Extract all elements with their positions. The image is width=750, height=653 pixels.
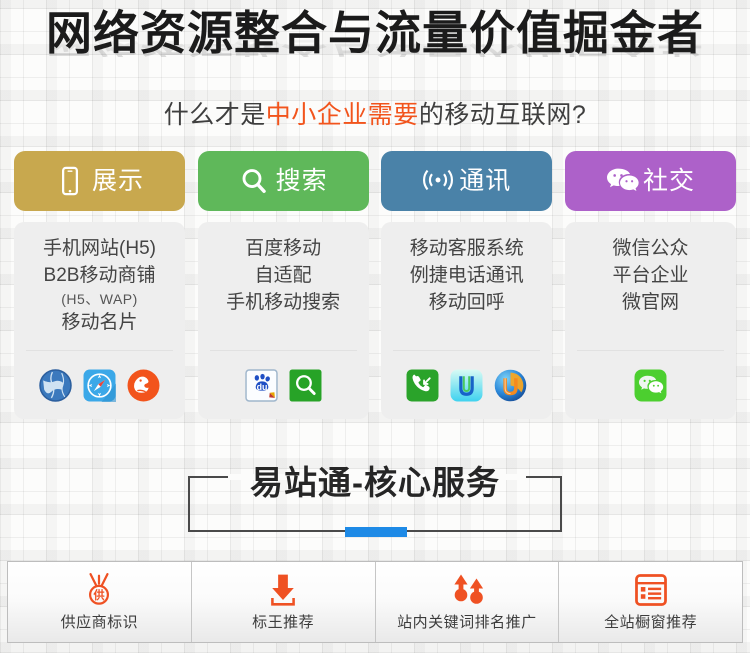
service-card-display[interactable]: 展示 手机网站(H5) B2B移动商铺 (H5、WAP) 移动名片 bbox=[14, 151, 185, 419]
card-text-block: 百度移动 自适配 手机移动搜索 bbox=[204, 236, 363, 317]
feature-strip: 供 供应商标识 标王推荐 站内关键词排名推广 全站橱窗推荐 bbox=[7, 561, 743, 643]
hero-section: 网络资源整合与流量价值掘金者 网络资源整合与流量价值掘金者 bbox=[0, 0, 750, 92]
page-title: 网络资源整合与流量价值掘金者 bbox=[0, 10, 750, 56]
feature-item-label: 全站橱窗推荐 bbox=[604, 611, 697, 632]
double-up-arrow-icon bbox=[449, 572, 485, 608]
card-body-display: 手机网站(H5) B2B移动商铺 (H5、WAP) 移动名片 bbox=[14, 222, 185, 419]
card-header-label: 搜索 bbox=[276, 169, 328, 194]
signal-broadcast-icon bbox=[422, 166, 452, 196]
orange-u-orb-icon[interactable] bbox=[494, 369, 527, 402]
globe-browser-icon[interactable] bbox=[39, 369, 72, 402]
feature-item-showcase[interactable]: 全站橱窗推荐 bbox=[558, 562, 742, 642]
hero-subtitle-highlight: 中小企业需要 bbox=[266, 101, 419, 129]
section-accent-bar bbox=[345, 527, 407, 537]
card-app-icons: du bbox=[204, 351, 363, 419]
card-app-icons bbox=[571, 351, 730, 419]
service-cards-row: 展示 手机网站(H5) B2B移动商铺 (H5、WAP) 移动名片 bbox=[0, 151, 750, 419]
download-arrow-icon bbox=[265, 572, 301, 608]
card-header-search[interactable]: 搜索 bbox=[198, 151, 369, 211]
svg-text:du: du bbox=[256, 382, 267, 392]
service-card-social[interactable]: 社交 微信公众 平台企业 微官网 bbox=[565, 151, 736, 419]
card-app-icons bbox=[387, 351, 546, 419]
feature-item-label: 标王推荐 bbox=[252, 611, 314, 632]
card-header-social[interactable]: 社交 bbox=[565, 151, 736, 211]
promo-page: 网络资源整合与流量价值掘金者 网络资源整合与流量价值掘金者 什么才是中小企业需要… bbox=[0, 0, 750, 653]
card-line: 自适配 bbox=[204, 263, 363, 290]
service-card-search[interactable]: 搜索 百度移动 自适配 手机移动搜索 du bbox=[198, 151, 369, 419]
card-line: 百度移动 bbox=[204, 236, 363, 263]
card-text-block: 微信公众 平台企业 微官网 bbox=[571, 236, 730, 317]
wechat-bubbles-icon bbox=[606, 166, 636, 196]
card-line: 移动名片 bbox=[20, 310, 179, 337]
card-line: 微官网 bbox=[571, 290, 730, 317]
card-line: 移动客服系统 bbox=[387, 236, 546, 263]
card-line-small: (H5、WAP) bbox=[20, 290, 179, 310]
service-card-communication[interactable]: 通讯 移动客服系统 例捷电话通讯 移动回呼 bbox=[381, 151, 552, 419]
card-line: B2B移动商铺 bbox=[20, 263, 179, 290]
feature-item-top-bid[interactable]: 标王推荐 bbox=[191, 562, 375, 642]
safari-compass-icon[interactable] bbox=[83, 369, 116, 402]
window-list-icon bbox=[633, 572, 669, 608]
mobile-phone-icon bbox=[55, 166, 85, 196]
medal-supplier-icon: 供 bbox=[81, 572, 117, 608]
card-line: 手机移动搜索 bbox=[204, 290, 363, 317]
green-search-icon[interactable] bbox=[289, 369, 322, 402]
svg-text:供: 供 bbox=[93, 588, 105, 602]
search-magnifier-icon bbox=[239, 166, 269, 196]
card-header-label: 通讯 bbox=[459, 169, 511, 194]
card-text-block: 移动客服系统 例捷电话通讯 移动回呼 bbox=[387, 236, 546, 317]
feature-item-label: 供应商标识 bbox=[61, 611, 139, 632]
green-phone-call-icon[interactable] bbox=[406, 369, 439, 402]
baidu-paw-icon[interactable]: du bbox=[245, 369, 278, 402]
hero-subtitle-pre: 什么才是 bbox=[164, 101, 266, 129]
section-title: 易站通-核心服务 bbox=[0, 464, 750, 502]
card-header-communication[interactable]: 通讯 bbox=[381, 151, 552, 211]
card-line: 平台企业 bbox=[571, 263, 730, 290]
card-line: 微信公众 bbox=[571, 236, 730, 263]
blue-u-app-icon[interactable] bbox=[450, 369, 483, 402]
section-heading-block: 易站通-核心服务 bbox=[0, 464, 750, 538]
card-header-display[interactable]: 展示 bbox=[14, 151, 185, 211]
card-body-search: 百度移动 自适配 手机移动搜索 du bbox=[198, 222, 369, 419]
card-header-label: 展示 bbox=[92, 169, 144, 194]
hero-subtitle-post: 的移动互联网? bbox=[419, 101, 586, 129]
feature-item-supplier-badge[interactable]: 供 供应商标识 bbox=[8, 562, 191, 642]
card-body-communication: 移动客服系统 例捷电话通讯 移动回呼 bbox=[381, 222, 552, 419]
card-header-label: 社交 bbox=[643, 169, 695, 194]
card-body-social: 微信公众 平台企业 微官网 bbox=[565, 222, 736, 419]
feature-item-label: 站内关键词排名推广 bbox=[397, 611, 537, 632]
card-line: 例捷电话通讯 bbox=[387, 263, 546, 290]
card-app-icons bbox=[20, 351, 179, 419]
hero-subtitle: 什么才是中小企业需要的移动互联网? bbox=[0, 95, 750, 131]
card-line: 手机网站(H5) bbox=[20, 236, 179, 263]
uc-browser-icon[interactable] bbox=[127, 369, 160, 402]
feature-item-keyword-ranking[interactable]: 站内关键词排名推广 bbox=[375, 562, 559, 642]
wechat-app-icon[interactable] bbox=[634, 369, 667, 402]
card-line: 移动回呼 bbox=[387, 290, 546, 317]
card-text-block: 手机网站(H5) B2B移动商铺 (H5、WAP) 移动名片 bbox=[20, 236, 179, 337]
